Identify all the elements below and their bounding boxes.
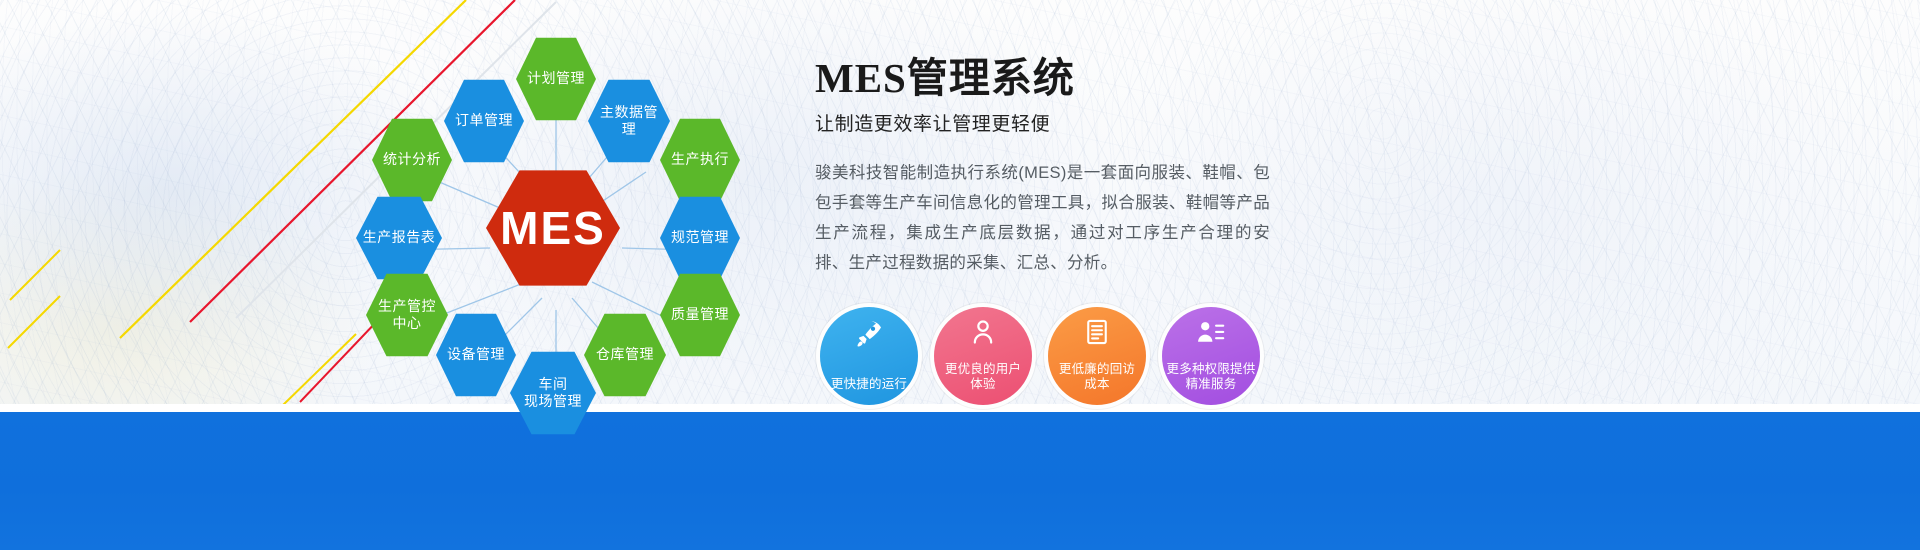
hex-node-label: 主数据管理: [594, 104, 664, 138]
hex-node-label: 生产报告表: [363, 229, 436, 246]
benefit-label: 更优良的用户 体验: [945, 362, 1021, 405]
benefit-label: 更低廉的回访 成本: [1059, 362, 1135, 405]
benefit-badge-experience[interactable]: 更优良的用户 体验: [934, 307, 1032, 405]
hex-node-label: 设备管理: [447, 346, 505, 363]
user-icon: [969, 318, 997, 351]
benefit-label: 更多种权限提供 精准服务: [1167, 362, 1256, 405]
rocket-icon: [854, 318, 884, 353]
benefit-badge-roles[interactable]: 更多种权限提供 精准服务: [1162, 307, 1260, 405]
hex-node-label: 质量管理: [671, 306, 729, 323]
hex-node-label: 仓库管理: [596, 346, 654, 363]
hex-node-label: 生产管控 中心: [378, 298, 436, 332]
page-subtitle: 让制造更效率让管理更轻便: [815, 109, 1285, 136]
hero-text-block: MES管理系统 让制造更效率让管理更轻便 骏美科技智能制造执行系统(MES)是一…: [815, 56, 1285, 278]
hex-node-label: 统计分析: [383, 151, 441, 168]
hex-node-label: 车间 现场管理: [524, 376, 582, 410]
hex-node-label: 订单管理: [455, 112, 513, 129]
user-list-icon: [1196, 318, 1226, 351]
benefits-group: 更快捷的运行 更优良的用户 体验 更低廉的回访 成: [820, 307, 1260, 407]
background-bottom-band: [0, 412, 1920, 550]
hex-node-label: 计划管理: [527, 70, 585, 87]
hero-description: 骏美科技智能制造执行系统(MES)是一套面向服装、鞋帽、包包手套等生产车间信息化…: [815, 158, 1270, 278]
benefit-badge-speed[interactable]: 更快捷的运行: [820, 307, 918, 405]
core-label: MES: [500, 200, 606, 256]
hex-node-label: 生产执行: [671, 151, 729, 168]
benefit-badge-cost[interactable]: 更低廉的回访 成本: [1048, 307, 1146, 405]
page-title: MES管理系统: [815, 56, 1285, 102]
hex-node-label: 规范管理: [671, 229, 729, 246]
document-icon: [1083, 318, 1111, 351]
benefit-label: 更快捷的运行: [831, 377, 907, 405]
banner-stage: 计划管理 订单管理 主数据管理 统计分析 生产执行 生产报告表 规范管理 生产管…: [0, 0, 1920, 550]
